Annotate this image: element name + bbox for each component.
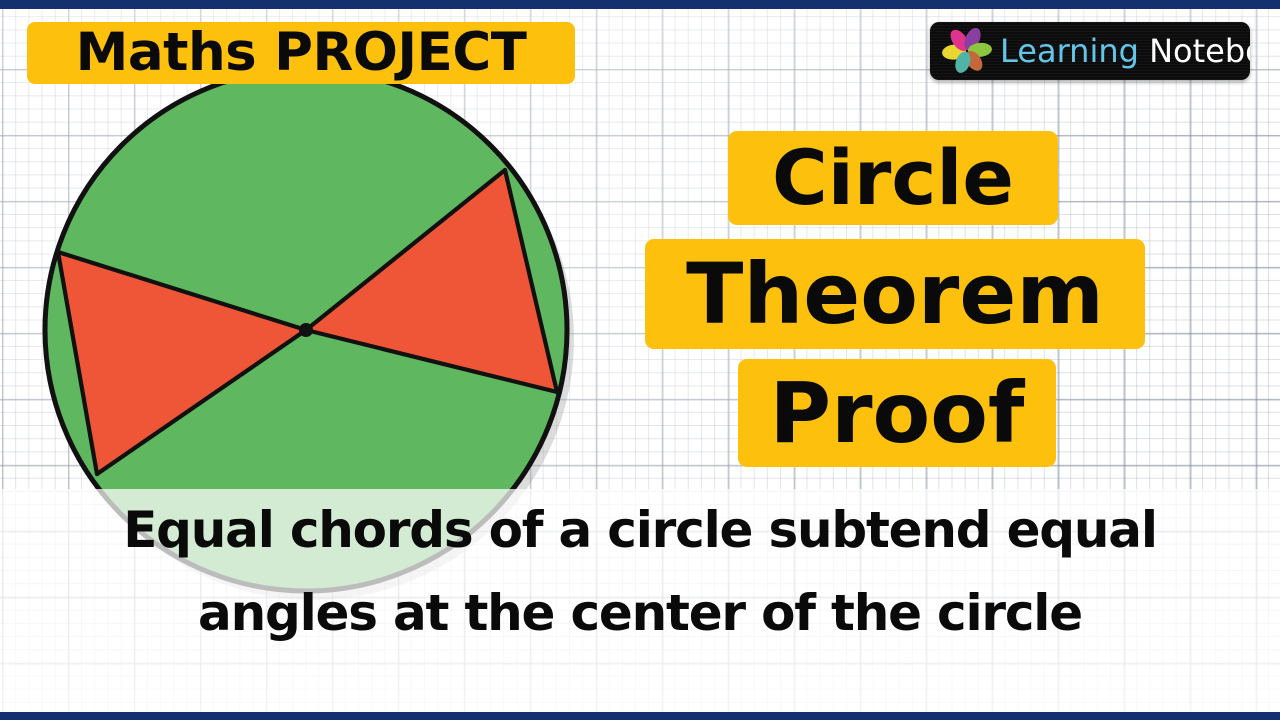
- logo-word-notebook: Notebook: [1149, 32, 1250, 70]
- caption-line-1: Equal chords of a circle subtend equal: [0, 505, 1280, 555]
- title-line-3-label: Proof: [770, 371, 1025, 455]
- circle-center-point: [299, 323, 313, 337]
- maths-project-banner: Maths PROJECT: [27, 22, 575, 84]
- title-block-circle: Circle: [728, 131, 1058, 225]
- logo-wordmark: Learning Notebook: [1000, 35, 1250, 67]
- title-block-theorem: Theorem: [645, 239, 1145, 349]
- frame-bar-top: [0, 0, 1280, 9]
- frame-bar-bottom: [0, 712, 1280, 720]
- thumbnail-stage: Maths PROJECT: [0, 0, 1280, 720]
- learning-notebook-logo[interactable]: Learning Notebook: [930, 22, 1250, 80]
- pinwheel-flower-icon: [940, 28, 994, 74]
- title-block-proof: Proof: [738, 359, 1056, 467]
- logo-word-learning: Learning: [1000, 32, 1139, 70]
- maths-project-label: Maths PROJECT: [76, 26, 527, 79]
- title-line-1-label: Circle: [772, 140, 1014, 216]
- title-line-2-label: Theorem: [686, 252, 1104, 336]
- caption-line-2: angles at the center of the circle: [0, 588, 1280, 638]
